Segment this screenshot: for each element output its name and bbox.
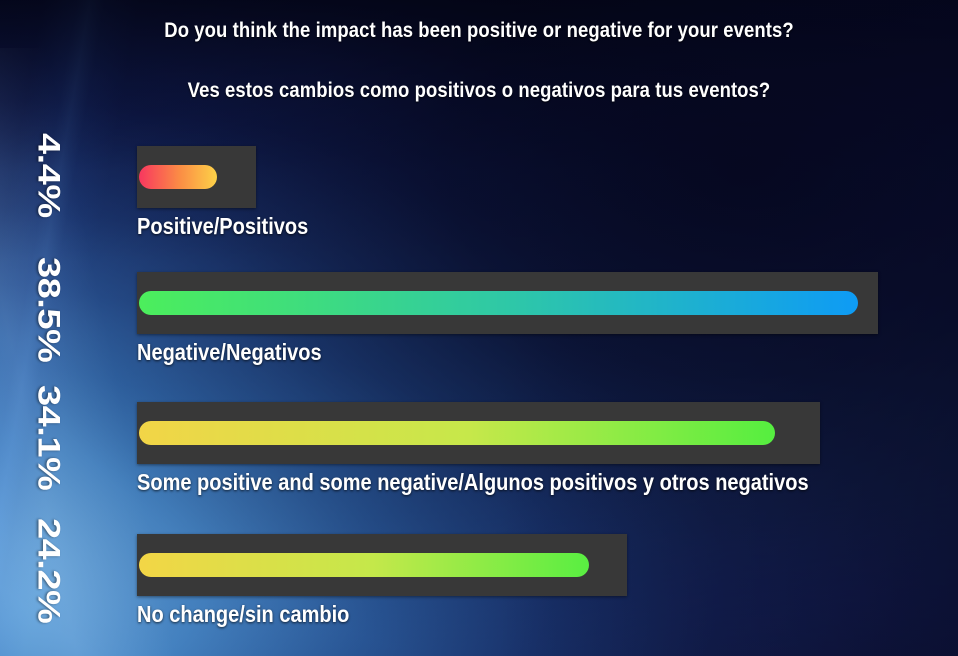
bar-fill-some-positive-some-negative: [139, 421, 775, 445]
chart-title-block: Do you think the impact has been positiv…: [0, 0, 958, 103]
bar-fill-positive: [139, 165, 217, 189]
chart-content: Do you think the impact has been positiv…: [0, 0, 958, 656]
bar-category-label-some-positive-some-negative: Some positive and some negative/Algunos …: [137, 470, 809, 495]
value-label-negative: 38.5%: [33, 257, 64, 362]
bar-fill-negative: [139, 291, 858, 315]
bar-category-label-positive: Positive/Positivos: [137, 214, 308, 239]
value-label-no-change: 24.2%: [33, 518, 64, 623]
bar-row-no-change: No change/sin cambio: [137, 534, 627, 627]
bar-category-label-negative: Negative/Negativos: [137, 340, 782, 365]
bar-track-some-positive-some-negative: [137, 402, 820, 464]
bar-category-label-no-change: No change/sin cambio: [137, 602, 563, 627]
bar-row-some-positive-some-negative: Some positive and some negative/Algunos …: [137, 402, 909, 495]
bar-row-positive: Positive/Positivos: [137, 146, 334, 239]
value-label-some-positive-some-negative: 34.1%: [33, 385, 64, 490]
bar-fill-no-change: [139, 553, 589, 577]
bar-row-negative: Negative/Negativos: [137, 272, 878, 365]
bar-track-negative: [137, 272, 878, 334]
value-label-positive: 4.4%: [33, 133, 64, 218]
bar-track-positive: [137, 146, 256, 208]
survey-chart-slide: Do you think the impact has been positiv…: [0, 0, 958, 656]
chart-title-english: Do you think the impact has been positiv…: [57, 19, 900, 43]
bar-track-no-change: [137, 534, 627, 596]
chart-title-spanish: Ves estos cambios como positivos o negat…: [57, 79, 900, 103]
